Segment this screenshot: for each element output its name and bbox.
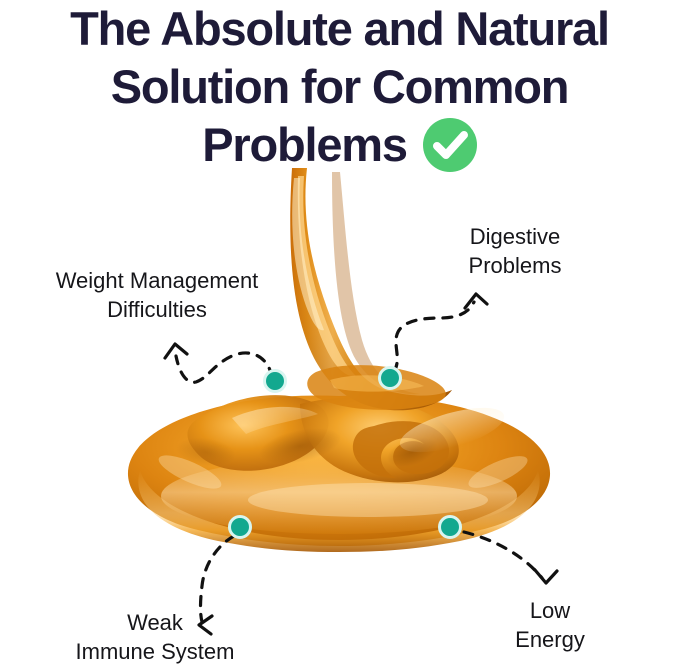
arrow-path-weight-management [176,353,272,382]
callout-dot-weak-immune-system[interactable] [228,515,252,539]
arrowhead-digestive-problems [465,294,487,308]
callout-dot-weight-management[interactable] [263,369,287,393]
callout-dot-low-energy[interactable] [438,515,462,539]
infographic-root: The Absolute and Natural Solution for Co… [0,0,679,667]
arrow-path-digestive-problems [394,302,474,372]
arrowhead-low-energy [535,570,557,583]
callout-connectors [0,0,679,667]
callout-dot-digestive-problems[interactable] [378,366,402,390]
arrow-path-weak-immune-system [201,536,235,622]
arrow-path-low-energy [464,532,542,578]
